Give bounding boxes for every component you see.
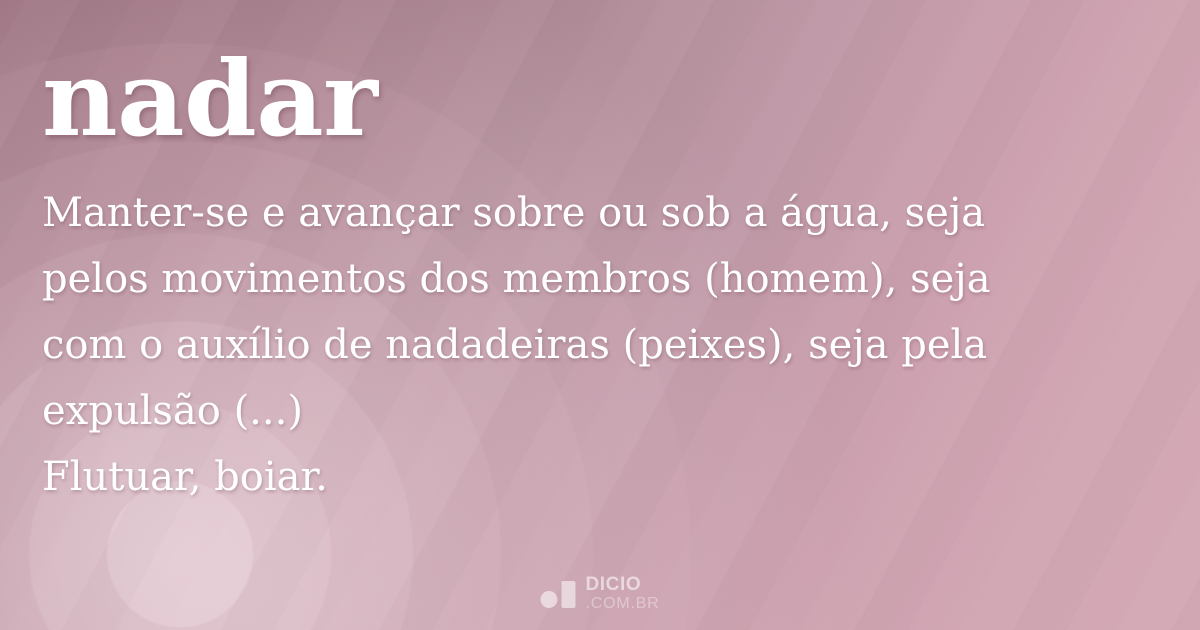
brand-name: DICIO [585, 575, 659, 594]
brand-watermark: DICIO .COM.BR [540, 575, 659, 612]
definition-line: com o auxílio de nadadeiras (peixes), se… [42, 312, 1122, 378]
definition-line: pelos movimentos dos membros (homem), se… [42, 246, 1122, 312]
dicio-logo-icon [540, 580, 575, 608]
page-title: nadar [42, 44, 1160, 154]
brand-wordmark: DICIO .COM.BR [585, 575, 659, 612]
word-definition-card: nadar Manter-se e avançar sobre ou sob a… [0, 0, 1200, 630]
circle-icon [540, 591, 557, 608]
brand-tld: .COM.BR [585, 596, 659, 612]
definition-line: Manter-se e avançar sobre ou sob a água,… [42, 180, 1122, 246]
bar-icon [561, 581, 575, 608]
definition-line: Flutuar, boiar. [42, 444, 1122, 510]
definition-text: Manter-se e avançar sobre ou sob a água,… [42, 180, 1122, 510]
definition-line: expulsão (...) [42, 378, 1122, 444]
card-content: nadar Manter-se e avançar sobre ou sob a… [0, 0, 1200, 630]
